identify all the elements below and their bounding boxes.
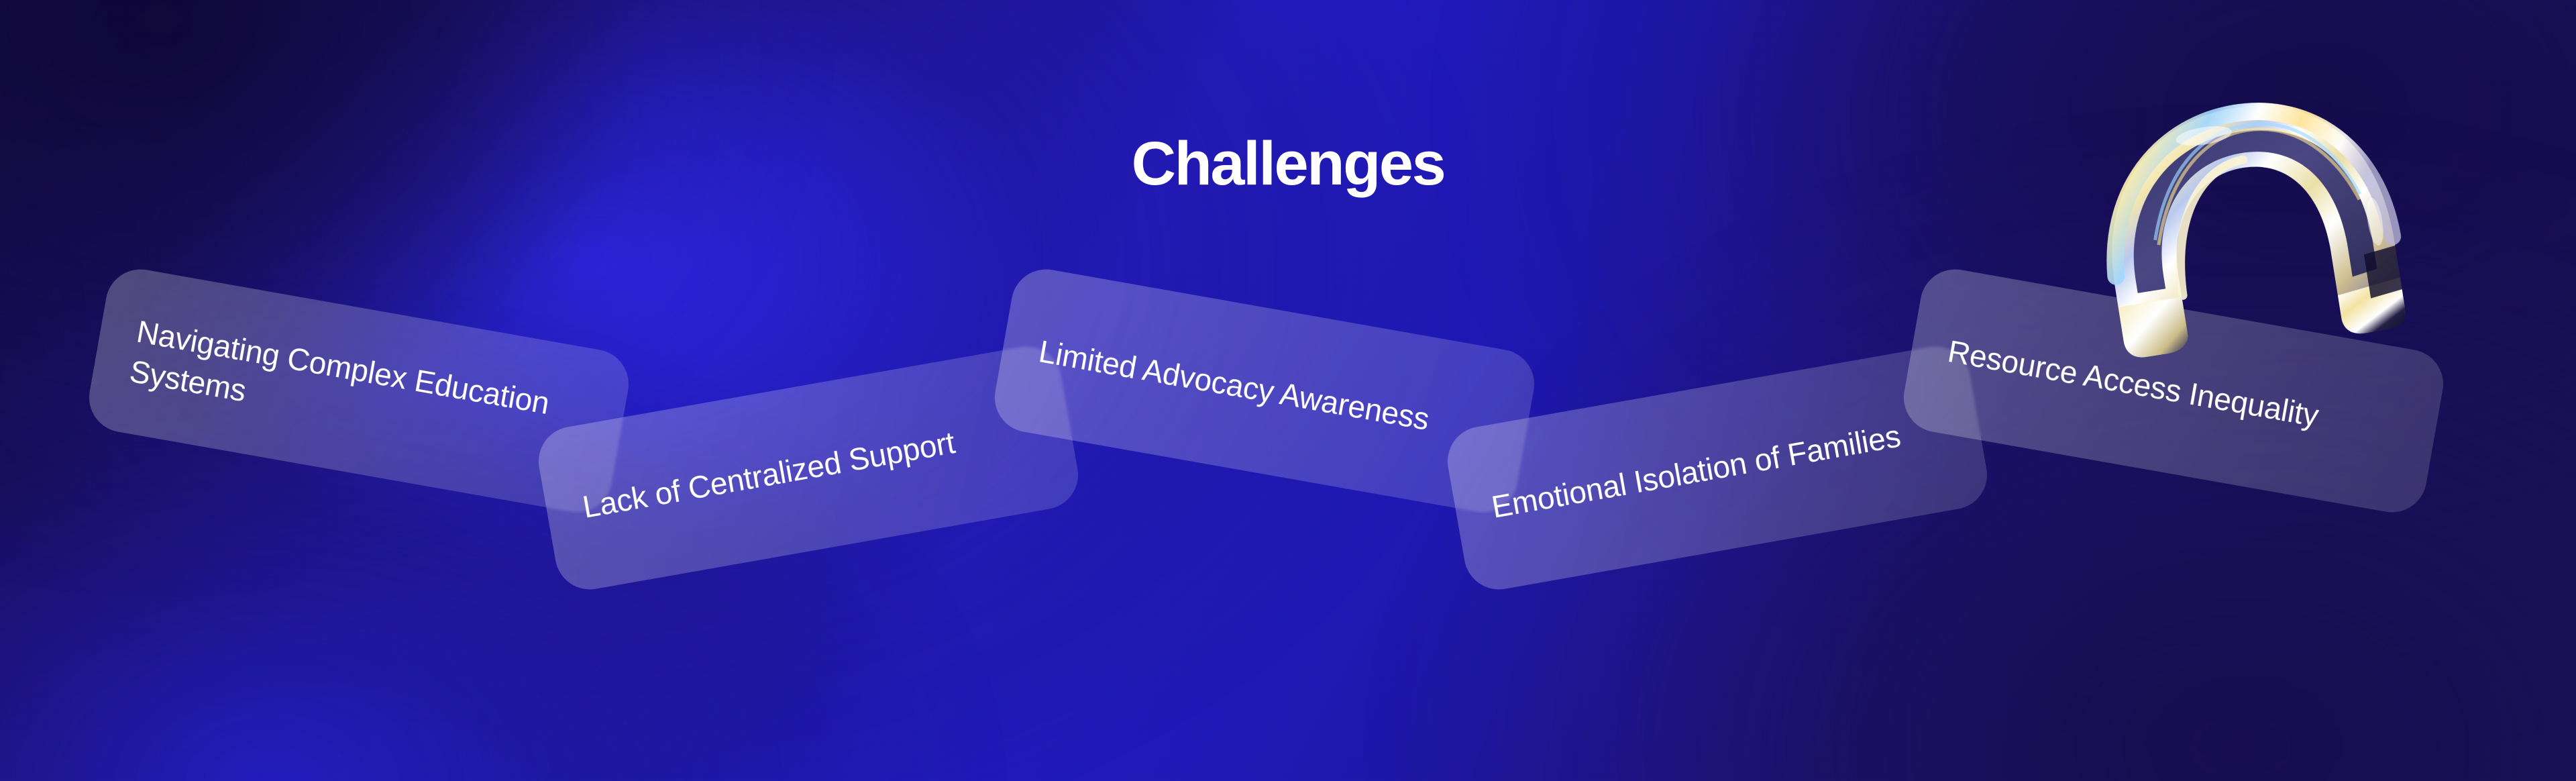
glass-arch-3d-decoration <box>2068 64 2428 379</box>
page-title: Challenges <box>0 133 2576 195</box>
arch-foot-left <box>2118 297 2190 360</box>
challenge-card-label: Emotional Isolation of Families <box>1453 410 1939 534</box>
slide-canvas: Challenges Navigating Complex Education … <box>0 0 2576 781</box>
challenge-card-label: Lack of Centralized Support <box>544 416 994 533</box>
challenge-card-label: Navigating Complex Education Systems <box>91 305 599 472</box>
challenge-card-label: Limited Advocacy Awareness <box>1000 325 1468 446</box>
glass-arch-icon <box>2068 64 2428 379</box>
